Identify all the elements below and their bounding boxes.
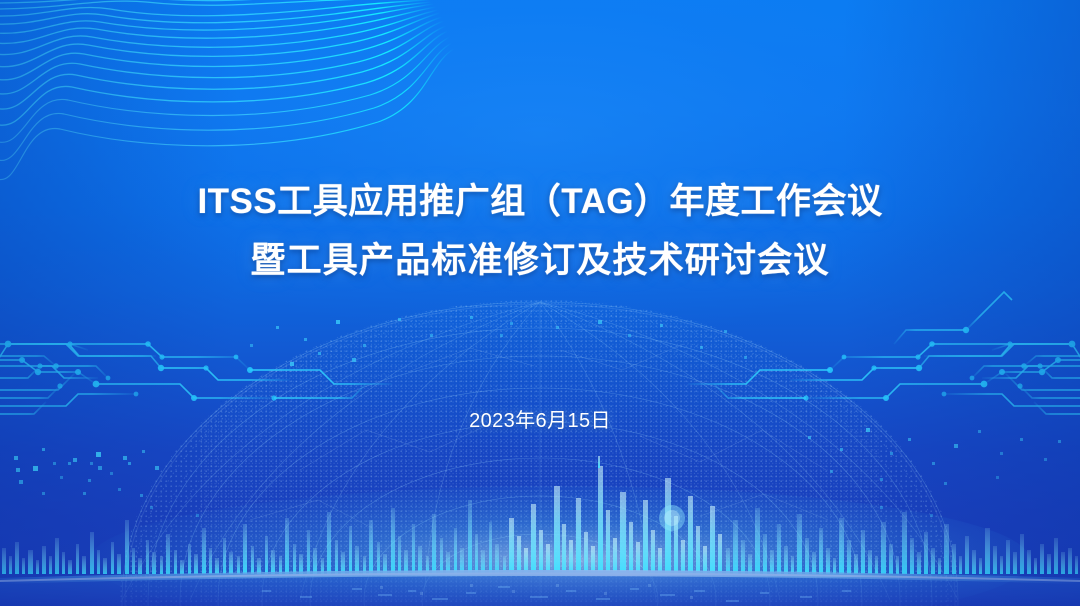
title-block: ITSS工具应用推广组（TAG）年度工作会议 暨工具产品标准修订及技术研讨会议	[0, 172, 1080, 290]
title-slide: ITSS工具应用推广组（TAG）年度工作会议 暨工具产品标准修订及技术研讨会议 …	[0, 0, 1080, 606]
date-block: 2023年6月15日	[0, 404, 1080, 433]
title-line-1: ITSS工具应用推广组（TAG）年度工作会议	[0, 172, 1080, 231]
background-edge-vignette	[0, 0, 1080, 606]
meeting-date: 2023年6月15日	[469, 410, 611, 432]
title-line-2: 暨工具产品标准修订及技术研讨会议	[0, 231, 1080, 290]
